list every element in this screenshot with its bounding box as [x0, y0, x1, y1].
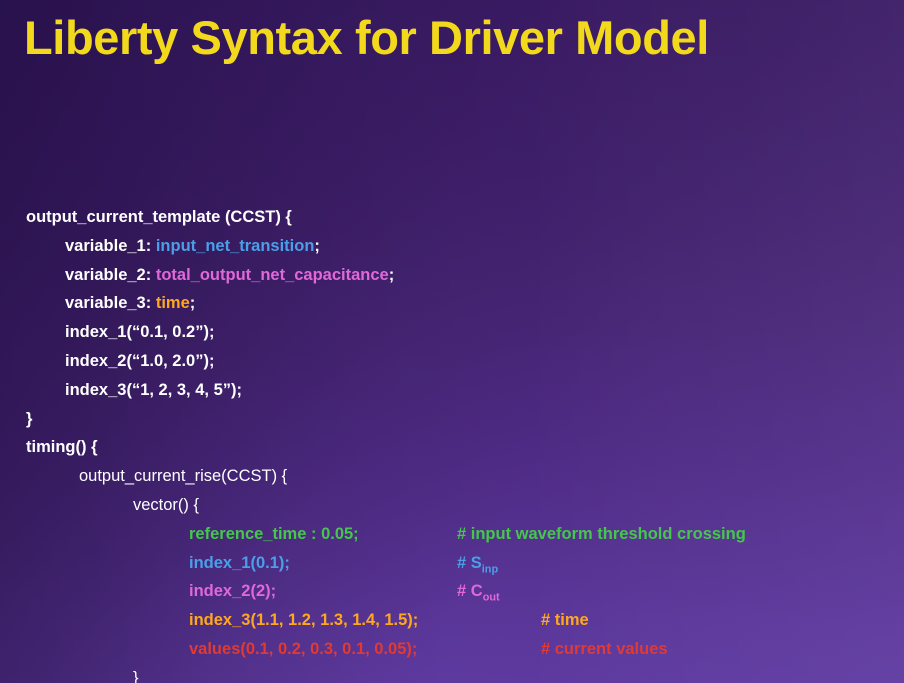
- code-line-values: values(0.1, 0.2, 0.3, 0.1, 0.05);# curre…: [0, 635, 904, 664]
- comment-subscript: inp: [482, 563, 498, 575]
- comment-prefix: # C: [457, 582, 483, 600]
- code-comment: # time: [541, 611, 589, 629]
- code-line-close-vector: }: [0, 664, 904, 683]
- code-comment: # current values: [541, 640, 668, 658]
- code-block: output_current_template (CCST) { variabl…: [0, 203, 904, 683]
- code-text: reference_time : 0.05;: [189, 520, 457, 549]
- code-key: variable_1:: [65, 237, 151, 255]
- code-semicolon: ;: [389, 266, 395, 284]
- slide-canvas: Liberty Syntax for Driver Model output_c…: [0, 0, 904, 683]
- code-text: output_current_template (CCST) {: [26, 208, 292, 226]
- code-text: }: [26, 410, 32, 428]
- code-line-variable-3: variable_3: time;: [0, 289, 904, 318]
- code-line-reference-time: reference_time : 0.05;# input waveform t…: [0, 520, 904, 549]
- code-text: index_3(“1, 2, 3, 4, 5”);: [65, 381, 242, 399]
- code-text: timing() {: [26, 438, 98, 456]
- code-line-index-3-template: index_3(“1, 2, 3, 4, 5”);: [0, 376, 904, 405]
- code-semicolon: ;: [190, 294, 196, 312]
- code-comment: # Cout: [457, 582, 500, 600]
- code-line-index-3-vector: index_3(1.1, 1.2, 1.3, 1.4, 1.5);# time: [0, 606, 904, 635]
- code-text: index_2(2);: [189, 577, 457, 606]
- code-value: time: [156, 294, 190, 312]
- code-line-index-2-template: index_2(“1.0, 2.0”);: [0, 347, 904, 376]
- code-line-variable-1: variable_1: input_net_transition;: [0, 232, 904, 261]
- code-line-output-current-template: output_current_template (CCST) {: [0, 203, 904, 232]
- code-comment: # Sinp: [457, 554, 498, 572]
- comment-subscript: out: [483, 592, 500, 604]
- code-line-output-current-rise: output_current_rise(CCST) {: [0, 462, 904, 491]
- code-text: values(0.1, 0.2, 0.3, 0.1, 0.05);: [189, 635, 541, 664]
- code-text: index_3(1.1, 1.2, 1.3, 1.4, 1.5);: [189, 606, 541, 635]
- code-key: variable_2:: [65, 266, 151, 284]
- comment-prefix: # S: [457, 554, 482, 572]
- code-text: index_1(“0.1, 0.2”);: [65, 323, 214, 341]
- code-key: variable_3:: [65, 294, 151, 312]
- code-line-index-1-vector: index_1(0.1);# Sinp: [0, 549, 904, 578]
- code-line-variable-2: variable_2: total_output_net_capacitance…: [0, 261, 904, 290]
- code-line-close-template: }: [0, 405, 904, 434]
- page-title: Liberty Syntax for Driver Model: [24, 8, 884, 68]
- code-text: }: [133, 669, 139, 683]
- code-text: vector() {: [133, 496, 199, 514]
- code-text: index_2(“1.0, 2.0”);: [65, 352, 214, 370]
- code-line-vector: vector() {: [0, 491, 904, 520]
- code-line-index-1-template: index_1(“0.1, 0.2”);: [0, 318, 904, 347]
- code-value: input_net_transition: [156, 237, 315, 255]
- code-line-timing: timing() {: [0, 433, 904, 462]
- code-comment: # input waveform threshold crossing: [457, 525, 746, 543]
- code-text: index_1(0.1);: [189, 549, 457, 578]
- code-line-index-2-vector: index_2(2);# Cout: [0, 577, 904, 606]
- code-text: output_current_rise(CCST) {: [79, 467, 287, 485]
- code-semicolon: ;: [314, 237, 320, 255]
- code-value: total_output_net_capacitance: [156, 266, 389, 284]
